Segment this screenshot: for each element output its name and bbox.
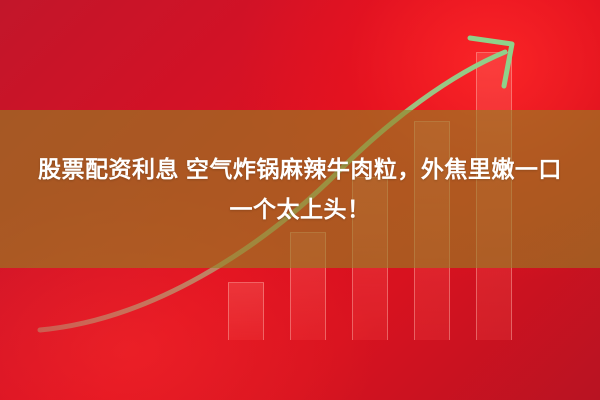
headline-line-1: 股票配资利息 空气炸锅麻辣牛肉粒，外焦里嫩一口 [32, 149, 568, 189]
promo-banner: 股票配资利息 空气炸锅麻辣牛肉粒，外焦里嫩一口 一个太上头！ [0, 0, 600, 400]
headline-text: 股票配资利息 空气炸锅麻辣牛肉粒，外焦里嫩一口 一个太上头！ [0, 110, 600, 268]
headline-line-2: 一个太上头！ [230, 189, 371, 229]
